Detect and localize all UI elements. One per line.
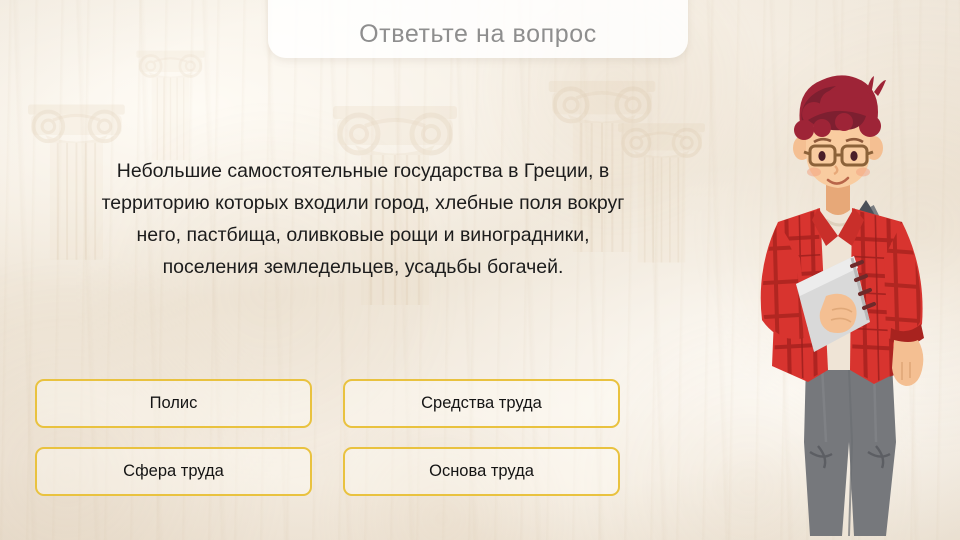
question-line: него, пастбища, оливковые рощи и виногра… [18,219,708,251]
answer-option-label: Средства труда [421,394,542,413]
question-line: Небольшие самостоятельные государства в … [18,155,708,187]
quiz-screen: Ответьте на вопрос Небольшие самостоятел… [0,0,960,540]
question-line: территорию которых входили город, хлебны… [18,187,708,219]
question-text: Небольшие самостоятельные государства в … [18,155,708,283]
answer-option-label: Полис [150,394,198,413]
answer-option-label: Сфера труда [123,462,224,481]
answer-option-2[interactable]: Средства труда [343,379,620,428]
page-title: Ответьте на вопрос [268,20,688,49]
hand-right [892,340,923,386]
eye-right [850,151,857,161]
eye-left [818,151,825,161]
answer-options: Полис Средства труда Сфера труда Основа … [35,379,620,496]
question-line: поселения земледельцев, усадьбы богачей. [18,251,708,283]
answer-option-4[interactable]: Основа труда [343,447,620,496]
header-panel: Ответьте на вопрос [268,0,688,58]
answer-option-3[interactable]: Сфера труда [35,447,312,496]
answer-option-1[interactable]: Полис [35,379,312,428]
hand-left [820,294,857,333]
answer-option-label: Основа труда [429,462,534,481]
student-boy-illustration [734,70,960,540]
